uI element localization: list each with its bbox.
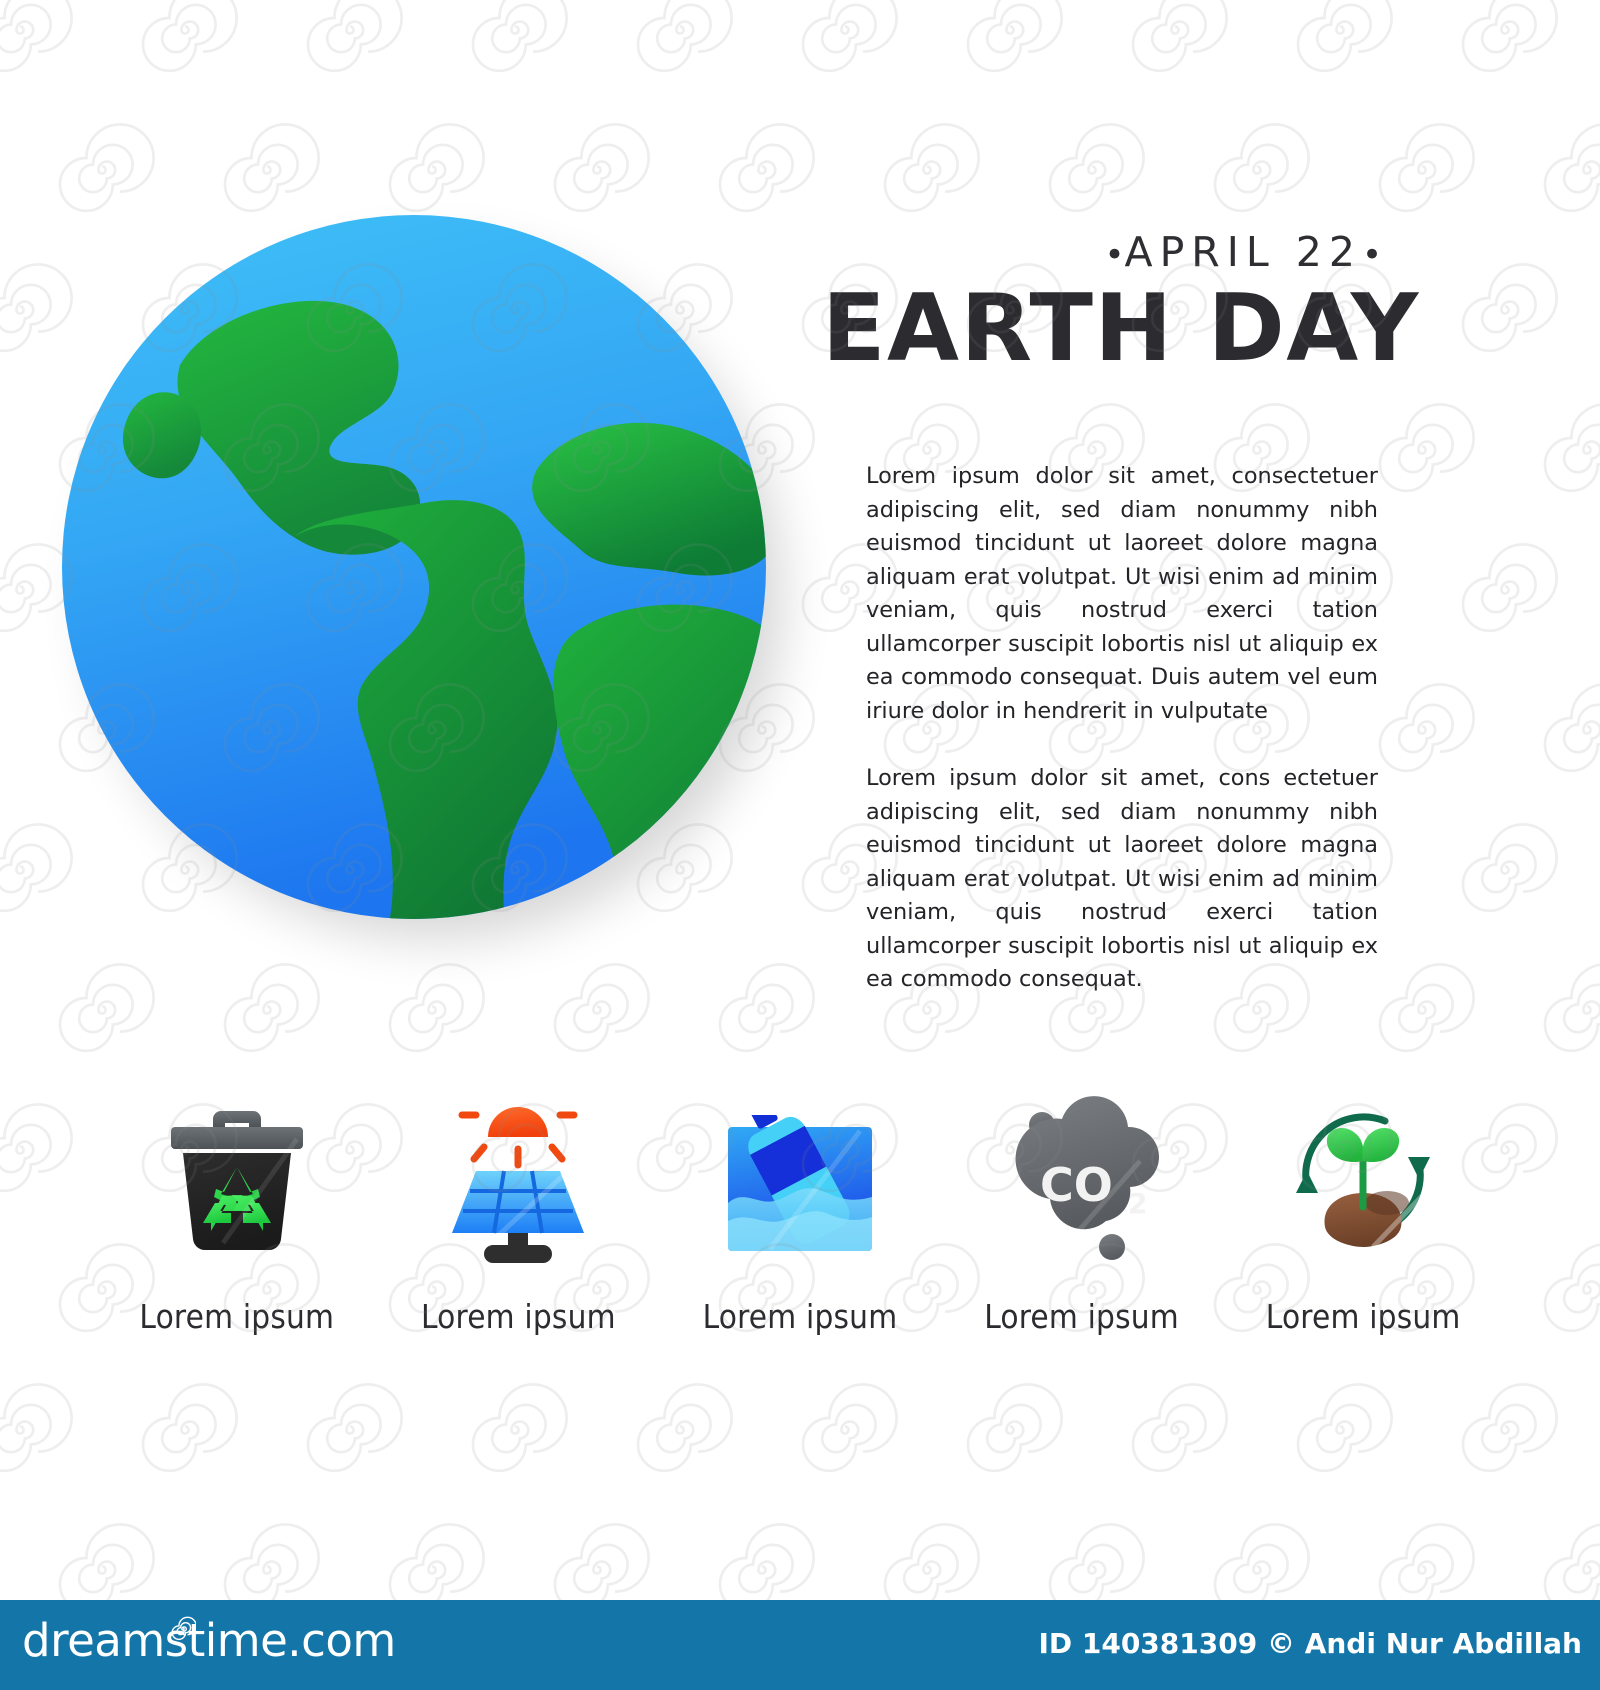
watermark-spiral bbox=[0, 1090, 80, 1210]
watermark-spiral bbox=[1527, 390, 1600, 510]
watermark-spiral bbox=[1445, 810, 1565, 930]
feature-label-1: Lorem ipsum bbox=[139, 1297, 334, 1336]
dreamstime-wordmark: dreamstime.com bbox=[22, 1618, 396, 1663]
watermark-spiral bbox=[1280, 1370, 1400, 1490]
watermark-spiral bbox=[620, 1370, 740, 1490]
earth-day-poster: •APRIL 22• EARTH DAY Lorem ipsum dolor s… bbox=[0, 0, 1600, 1690]
watermark-spiral bbox=[702, 950, 822, 1070]
feature-item-2[interactable]: Lorem ipsum bbox=[378, 1075, 660, 1375]
panel-post bbox=[508, 1233, 528, 1247]
watermark-spiral bbox=[1527, 670, 1600, 790]
earth-globe-svg bbox=[62, 215, 802, 955]
watermark-spiral bbox=[1445, 250, 1565, 370]
watermark-spiral bbox=[1032, 110, 1152, 230]
watermark-spiral bbox=[1445, 530, 1565, 650]
footer-bar: dreamstime.com ID 140381309 © Andi Nur A… bbox=[0, 1600, 1600, 1690]
watermark-spiral bbox=[290, 1370, 410, 1490]
watermark-spiral bbox=[455, 0, 575, 90]
kicker-dot-right: • bbox=[1362, 235, 1382, 275]
watermark-spiral bbox=[0, 0, 80, 90]
recycle-bin-icon[interactable] bbox=[137, 1075, 337, 1275]
soil-shade bbox=[1365, 1191, 1409, 1215]
plastic-bottle-water-icon[interactable] bbox=[700, 1075, 900, 1275]
panel-base bbox=[484, 1245, 552, 1263]
watermark-spiral bbox=[1527, 110, 1600, 230]
watermark-spiral bbox=[207, 950, 327, 1070]
earth-illustration bbox=[62, 215, 802, 955]
kicker-text: APRIL 22 bbox=[1125, 228, 1362, 276]
watermark-spiral bbox=[867, 110, 987, 230]
kicker-date: •APRIL 22• bbox=[822, 232, 1382, 273]
watermark-spiral bbox=[537, 950, 657, 1070]
watermark-spiral bbox=[620, 0, 740, 90]
watermark-spiral bbox=[125, 0, 245, 90]
image-credit: ID 140381309 © Andi Nur Abdillah bbox=[1038, 1627, 1582, 1660]
watermark-spiral bbox=[1362, 110, 1482, 230]
watermark-spiral bbox=[785, 1370, 905, 1490]
feature-label-4: Lorem ipsum bbox=[984, 1297, 1179, 1336]
watermark-spiral bbox=[1527, 1230, 1600, 1350]
watermark-spiral bbox=[1527, 950, 1600, 1070]
feature-label-5: Lorem ipsum bbox=[1266, 1297, 1461, 1336]
watermark-spiral bbox=[1115, 1370, 1235, 1490]
solar-panel-icon[interactable] bbox=[418, 1075, 618, 1275]
watermark-spiral bbox=[1280, 0, 1400, 90]
watermark-spiral bbox=[1362, 390, 1482, 510]
plant-sprout-recycle-icon[interactable] bbox=[1263, 1075, 1463, 1275]
co2-cloud-icon[interactable]: CO 2 bbox=[982, 1075, 1182, 1275]
kicker-dot-left: • bbox=[1104, 235, 1124, 275]
dreamstime-logo[interactable]: dreamstime.com bbox=[22, 1618, 396, 1663]
body-copy: Lorem ipsum dolor sit amet, consectetuer… bbox=[866, 460, 1378, 997]
watermark-spiral bbox=[950, 0, 1070, 90]
watermark-spiral bbox=[702, 110, 822, 230]
feature-label-3: Lorem ipsum bbox=[703, 1297, 898, 1336]
watermark-spiral bbox=[1197, 110, 1317, 230]
watermark-spiral bbox=[125, 1370, 245, 1490]
feature-item-4[interactable]: CO 2 Lorem ipsum bbox=[941, 1075, 1223, 1375]
watermark-spiral bbox=[455, 1370, 575, 1490]
spiral-icon bbox=[170, 1616, 196, 1642]
watermark-spiral bbox=[1362, 670, 1482, 790]
feature-item-3[interactable]: Lorem ipsum bbox=[659, 1075, 941, 1375]
watermark-spiral bbox=[42, 110, 162, 230]
headline-block: •APRIL 22• EARTH DAY bbox=[822, 232, 1382, 376]
watermark-spiral bbox=[1445, 0, 1565, 90]
watermark-spiral bbox=[1445, 1370, 1565, 1490]
feature-item-5[interactable]: Lorem ipsum bbox=[1222, 1075, 1504, 1375]
paragraph-2: Lorem ipsum dolor sit amet, cons ectetue… bbox=[866, 762, 1378, 997]
watermark-spiral bbox=[1115, 0, 1235, 90]
watermark-spiral bbox=[0, 1370, 80, 1490]
watermark-spiral bbox=[372, 110, 492, 230]
co2-subscript: 2 bbox=[1128, 1187, 1147, 1220]
paragraph-1: Lorem ipsum dolor sit amet, consectetuer… bbox=[866, 460, 1378, 728]
watermark-spiral bbox=[537, 110, 657, 230]
watermark-spiral bbox=[785, 0, 905, 90]
bin-lid bbox=[171, 1127, 303, 1149]
feature-label-2: Lorem ipsum bbox=[421, 1297, 616, 1336]
page-title: EARTH DAY bbox=[822, 281, 1382, 376]
watermark-spiral bbox=[372, 950, 492, 1070]
co2-bubble-bottom bbox=[1099, 1234, 1125, 1260]
watermark-spiral bbox=[42, 950, 162, 1070]
feature-icon-row: Lorem ipsum bbox=[96, 1075, 1504, 1375]
watermark-spiral bbox=[290, 0, 410, 90]
watermark-spiral bbox=[207, 110, 327, 230]
watermark-spiral bbox=[950, 1370, 1070, 1490]
watermark-spiral bbox=[1362, 950, 1482, 1070]
feature-item-1[interactable]: Lorem ipsum bbox=[96, 1075, 378, 1375]
